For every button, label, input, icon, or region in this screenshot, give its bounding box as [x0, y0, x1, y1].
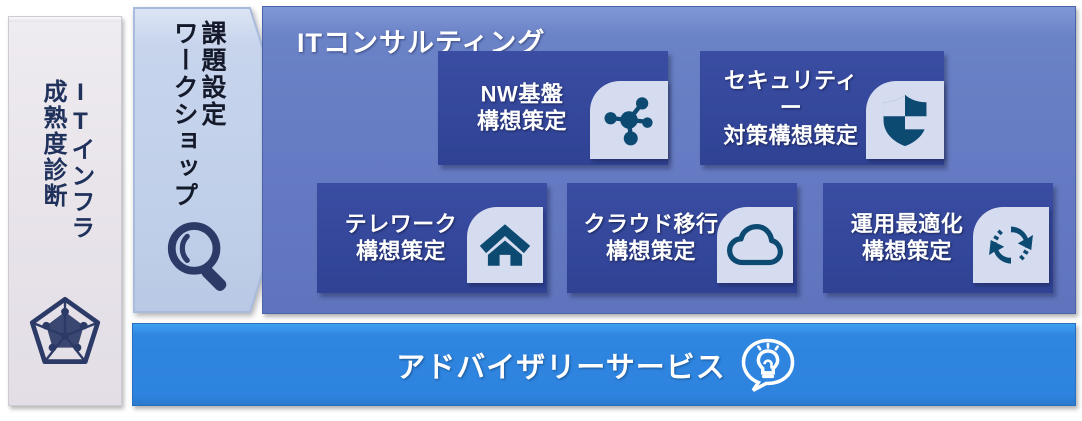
magnifier-icon: [158, 214, 244, 300]
network-hub-icon: [590, 81, 668, 159]
card-cloud-migration-label: クラウド移行 構想策定: [581, 211, 721, 266]
refresh-cycle-icon: [973, 207, 1049, 283]
card-nw-infrastructure[interactable]: NW基盤 構想策定: [438, 51, 668, 165]
pentagon-radar-icon: [26, 293, 104, 371]
card-cloud-migration[interactable]: クラウド移行 構想策定: [567, 183, 797, 293]
maturity-diagnosis-panel[interactable]: ITインフラ 成熟度診断: [8, 16, 122, 406]
advisory-service-content: アドバイザリーサービス: [396, 337, 795, 393]
card-telework[interactable]: テレワーク 構想策定: [317, 183, 547, 293]
maturity-diagnosis-label: ITインフラ 成熟度診断: [9, 79, 123, 241]
it-consulting-panel[interactable]: ITコンサルティング NW基盤 構想策定: [262, 6, 1076, 314]
lightbulb-speech-bubble-icon: [740, 337, 796, 393]
card-operations-optimization[interactable]: 運用最適化 構想策定: [823, 183, 1053, 293]
shield-icon: [866, 81, 944, 159]
advisory-service-banner[interactable]: アドバイザリーサービス: [132, 323, 1076, 406]
card-operations-optimization-label: 運用最適化 構想策定: [837, 211, 977, 266]
card-security-label: セキュリティー 対策構想策定: [714, 67, 868, 149]
workshop-label: 課題設定 ワークショップ: [132, 20, 264, 209]
card-nw-infrastructure-label: NW基盤 構想策定: [452, 81, 592, 136]
diagram-canvas: ITインフラ 成熟度診断: [0, 0, 1082, 421]
home-icon: [467, 207, 543, 283]
advisory-service-label: アドバイザリーサービス: [396, 344, 725, 386]
card-telework-label: テレワーク 構想策定: [331, 211, 471, 266]
maturity-label-line-1: ITインフラ: [67, 79, 93, 241]
workshop-label-line-1: 課題設定: [199, 20, 225, 128]
card-security[interactable]: セキュリティー 対策構想策定: [700, 51, 944, 165]
cloud-icon: [717, 207, 793, 283]
workshop-label-line-2: ワークショップ: [171, 20, 197, 209]
maturity-label-line-2: 成熟度診断: [39, 79, 65, 209]
